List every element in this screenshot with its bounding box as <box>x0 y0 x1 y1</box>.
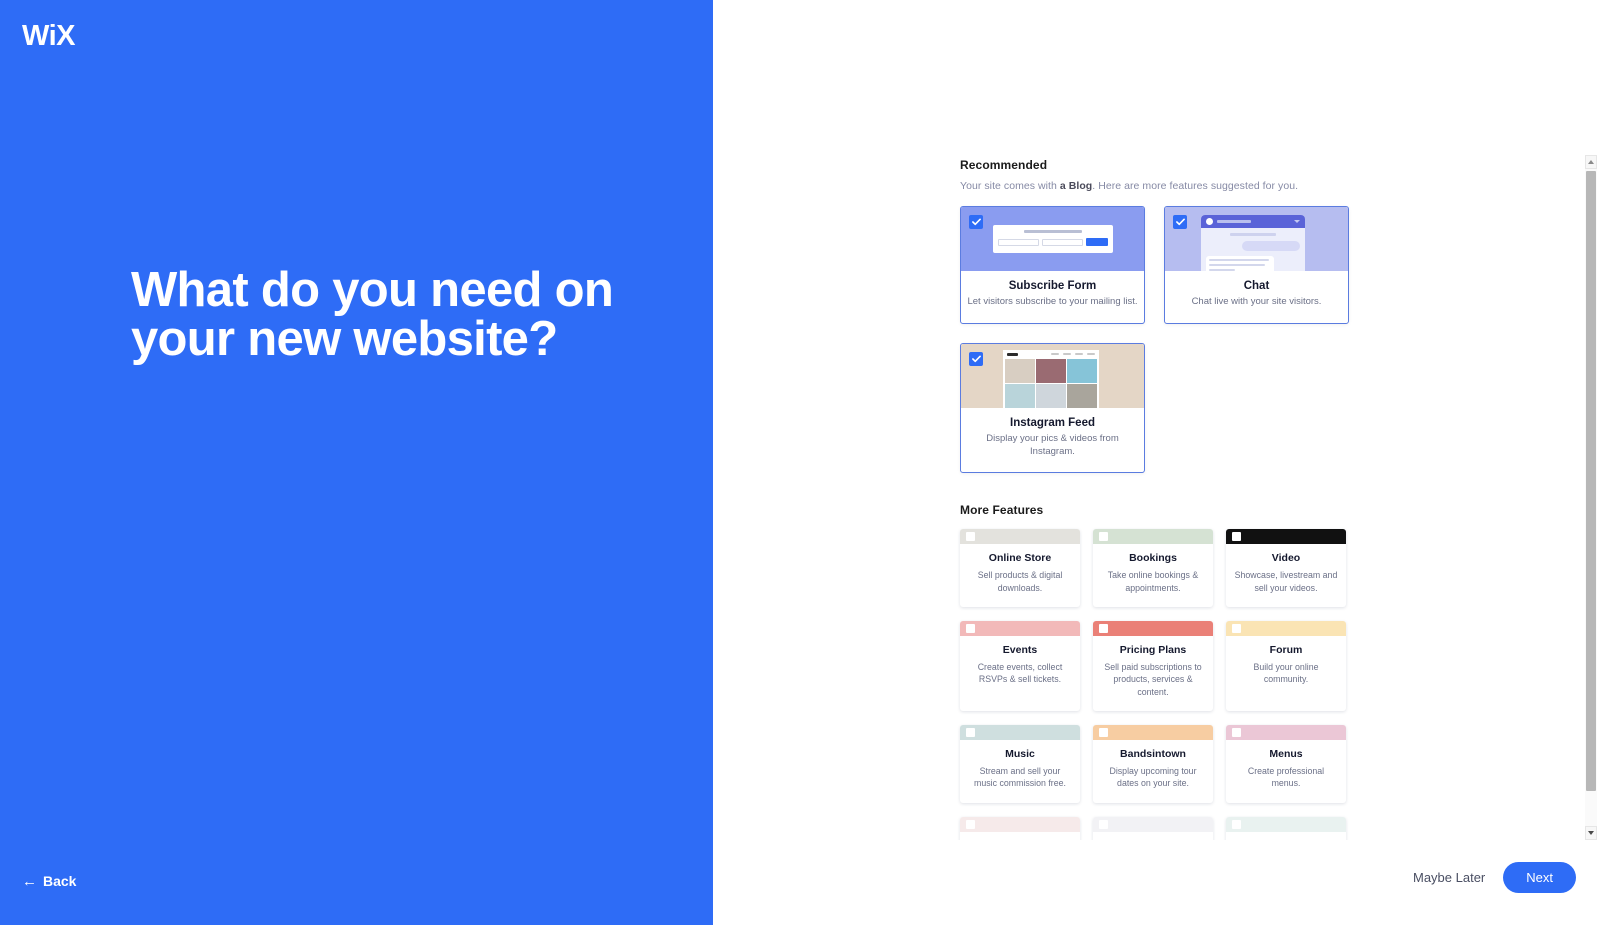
more-features-grid: Online StoreSell products & digital down… <box>960 529 1350 840</box>
feature-card-header <box>960 725 1080 740</box>
checkbox-chat[interactable] <box>1173 215 1187 229</box>
back-button[interactable]: ← Back <box>22 873 76 889</box>
triangle-up-icon <box>1588 160 1594 164</box>
feature-name: Events <box>967 644 1073 656</box>
vertical-scrollbar[interactable] <box>1585 155 1597 840</box>
feature-card-menus[interactable]: MenusCreate professional menus. <box>1226 725 1346 803</box>
feature-card-pricing-plans[interactable]: Pricing PlansSell paid subscriptions to … <box>1093 621 1213 711</box>
chat-thumbnail <box>1165 207 1348 271</box>
feature-desc: Chat live with your site visitors. <box>1171 296 1342 309</box>
scrollbar-thumb[interactable] <box>1586 171 1596 791</box>
scroll-down-button[interactable] <box>1585 826 1597 840</box>
feature-desc: Sell paid subscriptions to products, ser… <box>1100 661 1206 698</box>
feature-card-body: Online StoreSell products & digital down… <box>960 544 1080 607</box>
checkbox-menus[interactable] <box>1232 728 1241 737</box>
feature-card-header <box>1226 725 1346 740</box>
more-features-heading: More Features <box>960 503 1350 517</box>
checkbox-forum[interactable] <box>1232 624 1241 633</box>
checkbox-placeholder-9[interactable] <box>966 820 975 829</box>
feature-card-placeholder-9[interactable] <box>960 817 1080 840</box>
recommended-card-grid: Subscribe Form Let visitors subscribe to… <box>960 206 1350 473</box>
checkbox-bandsintown[interactable] <box>1099 728 1108 737</box>
feature-desc: Showcase, livestream and sell your video… <box>1233 569 1339 594</box>
feature-card-header <box>960 529 1080 544</box>
triangle-down-icon <box>1588 831 1594 835</box>
feature-card-header <box>1093 621 1213 636</box>
feature-card-body: ForumBuild your online community. <box>1226 636 1346 699</box>
checkbox-bookings[interactable] <box>1099 532 1108 541</box>
subscribe-form-mock <box>993 225 1113 253</box>
recommended-heading: Recommended <box>960 158 1350 172</box>
checkbox-instagram-feed[interactable] <box>969 352 983 366</box>
feature-name: Bookings <box>1100 552 1206 564</box>
recommended-subtitle: Your site comes with a Blog. Here are mo… <box>960 180 1350 192</box>
feature-card-body: EventsCreate events, collect RSVPs & sel… <box>960 636 1080 699</box>
feature-card-subscribe-form[interactable]: Subscribe Form Let visitors subscribe to… <box>960 206 1145 324</box>
subscribe-form-thumbnail <box>961 207 1144 271</box>
feature-card-header <box>1093 725 1213 740</box>
arrow-left-icon: ← <box>22 874 37 889</box>
feature-card-header <box>1093 529 1213 544</box>
feature-desc: Let visitors subscribe to your mailing l… <box>967 296 1138 309</box>
feature-card-body: MenusCreate professional menus. <box>1226 740 1346 803</box>
feature-name: Menus <box>1233 748 1339 760</box>
feature-card-music[interactable]: MusicStream and sell your music commissi… <box>960 725 1080 803</box>
feature-card-header <box>960 621 1080 636</box>
feature-desc: Create professional menus. <box>1233 765 1339 790</box>
checkbox-video[interactable] <box>1232 532 1241 541</box>
checkbox-subscribe-form[interactable] <box>969 215 983 229</box>
feature-desc: Stream and sell your music commission fr… <box>967 765 1073 790</box>
feature-desc: Create events, collect RSVPs & sell tick… <box>967 661 1073 686</box>
instagram-grid-mock <box>1003 350 1099 408</box>
next-button[interactable]: Next <box>1503 862 1576 893</box>
scroll-up-button[interactable] <box>1585 155 1597 169</box>
feature-desc: Sell products & digital downloads. <box>967 569 1073 594</box>
feature-card-events[interactable]: EventsCreate events, collect RSVPs & sel… <box>960 621 1080 711</box>
feature-card-instagram-feed[interactable]: Instagram Feed Display your pics & video… <box>960 343 1145 474</box>
feature-card-video[interactable]: VideoShowcase, livestream and sell your … <box>1226 529 1346 607</box>
feature-desc: Build your online community. <box>1233 661 1339 686</box>
feature-card-body <box>960 832 1080 840</box>
feature-name: Online Store <box>967 552 1073 564</box>
feature-name: Pricing Plans <box>1100 644 1206 656</box>
wix-logo[interactable]: WiX <box>22 20 75 53</box>
feature-card-header <box>1226 529 1346 544</box>
checkbox-pricing-plans[interactable] <box>1099 624 1108 633</box>
checkbox-online-store[interactable] <box>966 532 975 541</box>
feature-selection-panel: Recommended Your site comes with a Blog.… <box>713 0 1600 925</box>
recommended-subtitle-post: . Here are more features suggested for y… <box>1092 180 1298 192</box>
feature-name: Subscribe Form <box>967 280 1138 292</box>
feature-name: Forum <box>1233 644 1339 656</box>
left-hero-panel: WiX What do you need on your new website… <box>0 0 713 925</box>
recommended-subtitle-bold: a Blog <box>1060 180 1092 192</box>
feature-card-body: BandsintownDisplay upcoming tour dates o… <box>1093 740 1213 803</box>
chevron-down-icon <box>1294 220 1300 223</box>
feature-card-chat[interactable]: Chat Chat live with your site visitors. <box>1164 206 1349 324</box>
feature-name: Chat <box>1171 280 1342 292</box>
feature-card-forum[interactable]: ForumBuild your online community. <box>1226 621 1346 711</box>
recommended-subtitle-pre: Your site comes with <box>960 180 1060 192</box>
feature-card-online-store[interactable]: Online StoreSell products & digital down… <box>960 529 1080 607</box>
feature-desc: Display your pics & videos from Instagra… <box>967 433 1138 459</box>
feature-name: Music <box>967 748 1073 760</box>
back-button-label: Back <box>43 873 76 889</box>
feature-card-body: BookingsTake online bookings & appointme… <box>1093 544 1213 607</box>
feature-name: Instagram Feed <box>967 417 1138 429</box>
instagram-feed-thumbnail <box>961 344 1144 408</box>
feature-card-body: MusicStream and sell your music commissi… <box>960 740 1080 803</box>
feature-scroll-region[interactable]: Recommended Your site comes with a Blog.… <box>713 0 1600 840</box>
feature-card-body <box>1093 832 1213 840</box>
feature-card-placeholder-10[interactable] <box>1093 817 1213 840</box>
checkbox-placeholder-11[interactable] <box>1232 820 1241 829</box>
feature-card-header <box>1226 817 1346 832</box>
feature-name: Video <box>1233 552 1339 564</box>
feature-desc: Take online bookings & appointments. <box>1100 569 1206 594</box>
feature-card-header <box>1226 621 1346 636</box>
feature-card-bandsintown[interactable]: BandsintownDisplay upcoming tour dates o… <box>1093 725 1213 803</box>
feature-card-body: Pricing PlansSell paid subscriptions to … <box>1093 636 1213 711</box>
checkbox-events[interactable] <box>966 624 975 633</box>
checkbox-music[interactable] <box>966 728 975 737</box>
feature-card-bookings[interactable]: BookingsTake online bookings & appointme… <box>1093 529 1213 607</box>
feature-card-header <box>1093 817 1213 832</box>
feature-desc: Display upcoming tour dates on your site… <box>1100 765 1206 790</box>
feature-card-body <box>1226 832 1346 840</box>
page-title: What do you need on your new website? <box>131 266 651 364</box>
footer-actions: Maybe Later Next <box>1413 862 1576 893</box>
chat-widget-mock <box>1201 215 1305 271</box>
maybe-later-button[interactable]: Maybe Later <box>1413 870 1485 885</box>
checkbox-placeholder-10[interactable] <box>1099 820 1108 829</box>
feature-card-placeholder-11[interactable] <box>1226 817 1346 840</box>
feature-card-header <box>960 817 1080 832</box>
feature-card-body: VideoShowcase, livestream and sell your … <box>1226 544 1346 607</box>
feature-name: Bandsintown <box>1100 748 1206 760</box>
